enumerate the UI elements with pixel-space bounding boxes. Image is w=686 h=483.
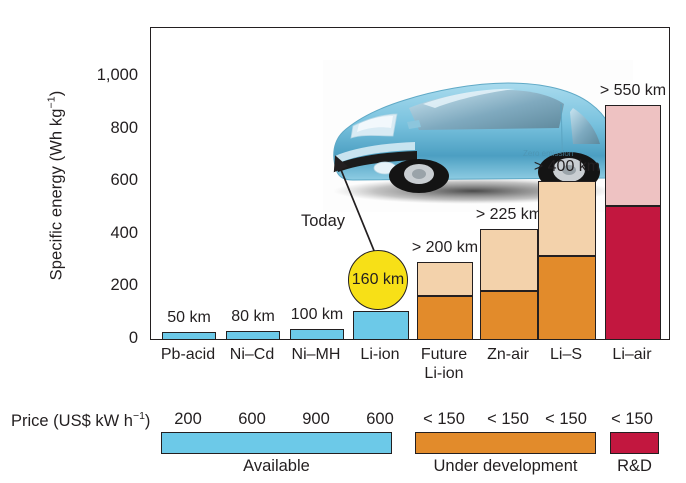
plot-area: Zero emission 50 km80 km100 km> 200 km> … bbox=[150, 27, 670, 340]
availability-group-bar bbox=[161, 432, 392, 454]
y-axis-tick-label: 200 bbox=[82, 276, 138, 295]
availability-group-bar bbox=[415, 432, 596, 454]
today-arrow-icon bbox=[151, 28, 670, 340]
y-axis-tick-label: 800 bbox=[82, 119, 138, 138]
price-row-title-text: Price (US$ kW h bbox=[11, 412, 133, 430]
y-axis-title-close: ) bbox=[48, 91, 66, 97]
availability-group-label: R&D bbox=[550, 457, 686, 476]
price-value: < 150 bbox=[587, 410, 677, 429]
today-caption: Today bbox=[301, 212, 345, 231]
price-row-title: Price (US$ kW h−1) bbox=[11, 410, 150, 431]
availability-group-bar bbox=[610, 432, 659, 454]
x-axis-label-line1: Li–air bbox=[587, 345, 677, 364]
chart-root: Specific energy (Wh kg−1) 02004006008001… bbox=[0, 0, 686, 483]
x-axis-label: Li–air bbox=[587, 345, 677, 364]
today-marker-label: 160 km bbox=[352, 271, 404, 289]
y-axis-tick-label: 600 bbox=[82, 171, 138, 190]
y-axis-title-superscript: −1 bbox=[46, 96, 58, 108]
today-marker-circle: 160 km bbox=[348, 250, 408, 310]
y-axis-tick-label: 400 bbox=[82, 224, 138, 243]
y-axis-title: Specific energy (Wh kg−1) bbox=[46, 56, 67, 316]
x-axis-label-line2: Li-ion bbox=[399, 364, 489, 383]
y-axis-title-text: Specific energy (Wh kg bbox=[48, 108, 66, 280]
y-axis-tick-label: 0 bbox=[82, 329, 138, 348]
y-axis-tick-label: 1,000 bbox=[82, 66, 138, 85]
